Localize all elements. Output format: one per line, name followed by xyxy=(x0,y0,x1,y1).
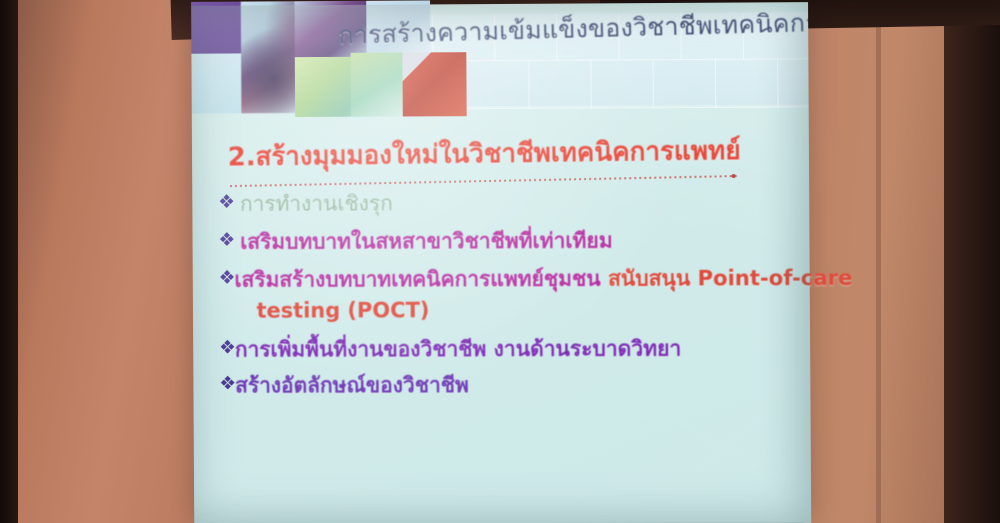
diamond-bullet-icon: ❖ xyxy=(219,266,235,290)
banner-grid-cell xyxy=(528,59,591,108)
banner-grid-cell xyxy=(466,60,529,109)
list-item-continuation: testing (POCT) xyxy=(256,297,798,322)
room-left-wall xyxy=(18,0,200,523)
list-item-text: เสริมสร้างบทบาทเทคนิคการแพทย์ชุมชน สนับส… xyxy=(234,264,852,293)
banner-grid-cell xyxy=(715,58,779,107)
bullet-list: ❖ การทำงานเชิงรุก ❖ เสริมบทบาทในสหสาขาวิ… xyxy=(218,189,799,407)
heading-rule-end-dot xyxy=(732,174,736,178)
photo-scene: การสร้างความเข้มแข็งของวิชาชีพเทคนิคการแ… xyxy=(0,0,1000,523)
banner-grid-cell xyxy=(777,58,809,107)
list-item: ❖ เสริมบทบาทในสหสาขาวิชาชีพที่เท่าเทียม xyxy=(218,227,798,256)
list-item: ❖ สร้างอัตลักษณ์ของวิชาชีพ xyxy=(219,372,799,400)
heading-dotted-rule xyxy=(230,175,738,187)
list-item: ❖ การทำงานเชิงรุก xyxy=(218,189,798,219)
projected-slide: การสร้างความเข้มแข็งของวิชาชีพเทคนิคการแ… xyxy=(191,2,811,523)
diamond-bullet-icon: ❖ xyxy=(219,373,235,397)
list-item-text: สร้างอัตลักษณ์ของวิชาชีพ xyxy=(235,372,469,400)
list-item: ❖ เสริมสร้างบทบาทเทคนิคการแพทย์ชุมชน สนั… xyxy=(219,265,799,294)
banner-mosaic-block-red-corner xyxy=(402,52,466,116)
list-item-text: เสริมบทบาทในสหสาขาวิชาชีพที่เท่าเทียม xyxy=(240,228,613,257)
list-item: ❖ การเพิ่มพื้นที่งานของวิชาชีพ งานด้านระ… xyxy=(219,335,799,364)
diamond-bullet-icon: ❖ xyxy=(218,229,240,253)
slide-body: 2.สร้างมุมมองใหม่ในวิชาชีพเทคนิคการแพทย์… xyxy=(192,121,811,523)
room-wall-seam xyxy=(876,20,881,523)
room-right-dark-area xyxy=(944,0,1000,523)
diamond-bullet-icon: ❖ xyxy=(218,191,240,215)
banner-mosaic-block-green xyxy=(351,53,403,117)
banner-grid-cell xyxy=(653,59,717,108)
list-item-text: การเพิ่มพื้นที่งานของวิชาชีพ งานด้านระบา… xyxy=(235,335,681,363)
slide-heading: 2.สร้างมุมมองใหม่ในวิชาชีพเทคนิคการแพทย์ xyxy=(228,136,788,173)
diamond-bullet-icon: ❖ xyxy=(219,337,235,361)
list-item-text: การทำงานเชิงรุก xyxy=(240,190,393,218)
banner-grid-cell xyxy=(590,59,653,108)
slide-header-banner: การสร้างความเข้มแข็งของวิชาชีพเทคนิคการแ… xyxy=(191,0,809,117)
